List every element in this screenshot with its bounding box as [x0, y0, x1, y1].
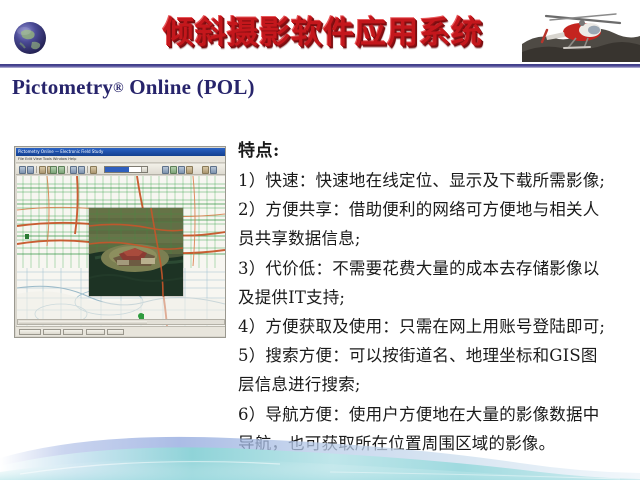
header-divider: [0, 64, 640, 68]
select-icon: [78, 166, 85, 174]
pan-icon: [50, 166, 57, 174]
feature-line: 3）代价低：不需要花费大量的成本去存储影像以: [238, 254, 634, 283]
status-button-1[interactable]: [19, 329, 41, 335]
gis-map-canvas[interactable]: [17, 176, 225, 326]
screenshot-menu-bar: File Edit View Tools Window Help: [16, 156, 226, 163]
toolbar-separator: [87, 166, 88, 173]
layers-icon: [90, 166, 97, 174]
open-icon: [27, 166, 34, 174]
status-button-2[interactable]: [43, 329, 61, 335]
print-icon: [39, 166, 46, 174]
earth-horizon-decoration: [0, 416, 640, 480]
compass-icon: [162, 166, 169, 174]
globe-icon: [8, 16, 52, 60]
toolbar-group-nav: [50, 166, 97, 173]
slide-header: 倾斜摄影软件应用系统: [0, 0, 640, 66]
toolbar-group-help: [202, 166, 217, 173]
application-screenshot: Pictometry Online — Electronic Field Stu…: [14, 146, 226, 338]
feature-line: 1）快速：快速地在线定位、显示及下载所需影像;: [238, 166, 634, 195]
north-icon: [170, 166, 177, 174]
south-icon: [186, 166, 193, 174]
toolbar-group-file: [19, 166, 54, 173]
map-horizontal-scrollbar[interactable]: [17, 319, 225, 325]
toolbar-separator: [36, 166, 37, 173]
scrollbar-thumb[interactable]: [19, 321, 147, 324]
help-icon: [210, 166, 217, 174]
east-icon: [178, 166, 185, 174]
feature-line: 2）方便共享：借助便利的网络可方便地与相关人: [238, 195, 634, 224]
subtitle-brand: Pictometry: [12, 75, 113, 99]
feature-line: 及提供IT支持;: [238, 283, 634, 312]
page-title: 倾斜摄影软件应用系统: [148, 12, 498, 54]
combo-selected-text: [105, 167, 129, 172]
feature-line: 层信息进行搜索;: [238, 370, 634, 399]
features-heading: 特点:: [238, 138, 634, 164]
screenshot-status-bar: [16, 326, 226, 336]
measure-icon: [70, 166, 77, 174]
helicopter-photo: [522, 0, 640, 62]
zoom-in-icon: [58, 166, 65, 174]
chevron-down-icon[interactable]: [141, 167, 147, 172]
status-button-3[interactable]: [63, 329, 83, 335]
subtitle-rest: Online (POL): [124, 75, 255, 99]
status-button-4[interactable]: [86, 329, 105, 335]
toolbar-group-view: [162, 166, 193, 173]
registered-mark-icon: ®: [113, 81, 124, 96]
info-icon: [202, 166, 209, 174]
aerial-photo-inset[interactable]: [89, 208, 183, 296]
screenshot-title-bar: Pictometry Online — Electronic Field Stu…: [16, 148, 226, 156]
status-button-5[interactable]: [107, 329, 124, 335]
toolbar-separator: [67, 166, 68, 173]
feature-line: 员共享数据信息;: [238, 224, 634, 253]
feature-line: 4）方便获取及使用：只需在网上用账号登陆即可;: [238, 312, 634, 341]
section-subtitle: Pictometry® Online (POL): [12, 75, 255, 100]
screenshot-toolbar: [16, 164, 226, 175]
feature-line: 5）搜索方便：可以按街道名、地理坐标和GIS图: [238, 341, 634, 370]
new-icon: [19, 166, 26, 174]
toolbar-search-combo[interactable]: [104, 166, 148, 173]
features-text-block: 特点: 1）快速：快速地在线定位、显示及下载所需影像; 2）方便共享：借助便利的…: [238, 138, 634, 458]
